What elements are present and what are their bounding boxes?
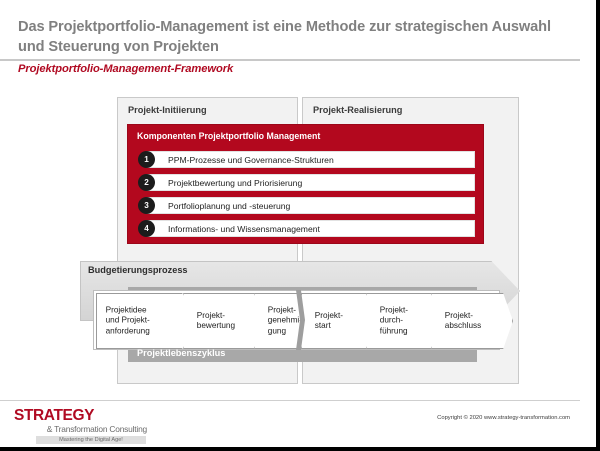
component-row-1[interactable]: PPM-Prozesse und Governance-Strukturen: [146, 151, 475, 168]
page-title: Das Projektportfolio-Management ist eine…: [18, 18, 574, 57]
logo-sub-text: & Transformation Consulting: [14, 425, 147, 434]
copyright-text: Copyright © 2020 www.strategy-transforma…: [437, 415, 570, 421]
phase-label-initiierung: Projekt-Initiierung: [128, 105, 207, 115]
project-lifecycle-label: Projektlebenszyklus: [137, 348, 225, 358]
process-step-label-3: Projekt- genehmi- gung: [268, 306, 302, 337]
component-label-3: Portfolioplanung und -steuerung: [168, 201, 290, 211]
slide: Das Projektportfolio-Management ist eine…: [0, 0, 600, 451]
logo-tagline: Mastering the Digital Age!: [36, 436, 146, 444]
process-step-1[interactable]: Projektidee und Projekt- anforderung: [96, 293, 194, 349]
component-number-2: 2: [138, 174, 155, 191]
component-number-3: 3: [138, 197, 155, 214]
component-label-4: Informations- und Wissensmanagement: [168, 224, 320, 234]
component-row-4[interactable]: Informations- und Wissensmanagement: [146, 220, 475, 237]
component-label-1: PPM-Prozesse und Governance-Strukturen: [168, 155, 334, 165]
footer-divider: [0, 400, 580, 401]
component-row-2[interactable]: Projektbewertung und Priorisierung: [146, 174, 475, 191]
page-subtitle: Projektportfolio-Management-Framework: [18, 63, 233, 75]
logo-main-text: STRATEGY: [14, 408, 164, 424]
process-step-6[interactable]: Projekt- abschluss: [431, 293, 513, 349]
components-box-title: Komponenten Projektportfolio Management: [137, 131, 320, 141]
process-step-label-6: Projekt- abschluss: [445, 311, 481, 332]
process-step-label-1: Projektidee und Projekt- anforderung: [106, 306, 150, 337]
process-step-label-4: Projekt- start: [315, 311, 343, 332]
component-number-1: 1: [138, 151, 155, 168]
company-logo: STRATEGY & Transformation Consulting Mas…: [14, 408, 164, 444]
phase-label-realisierung: Projekt-Realisierung: [313, 105, 402, 115]
component-row-3[interactable]: Portfolioplanung und -steuerung: [146, 197, 475, 214]
process-step-label-5: Projekt- durch- führung: [380, 306, 408, 337]
process-step-2[interactable]: Projekt- bewertung: [183, 293, 265, 349]
process-step-label-2: Projekt- bewertung: [197, 311, 235, 332]
component-number-4: 4: [138, 220, 155, 237]
process-steps-container: Projektidee und Projekt- anforderung Pro…: [93, 290, 500, 350]
budget-process-label: Budgetierungsprozess: [88, 265, 188, 275]
components-box: Komponenten Projektportfolio Management …: [127, 124, 484, 244]
title-divider: [0, 59, 580, 61]
component-label-2: Projektbewertung und Priorisierung: [168, 178, 302, 188]
